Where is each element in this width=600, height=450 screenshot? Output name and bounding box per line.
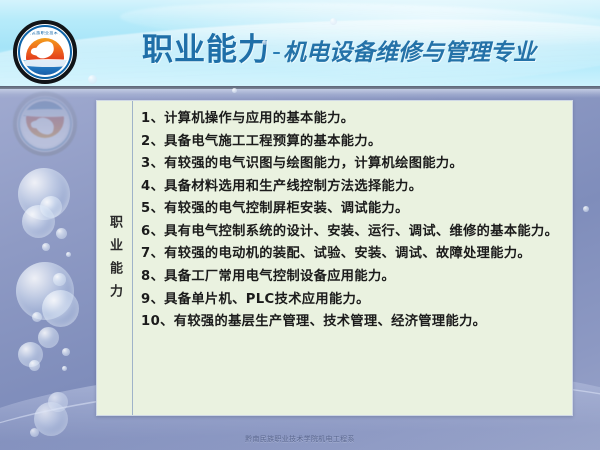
bubble-decoration [62, 366, 67, 371]
bubble-decoration [56, 228, 67, 239]
panel-side-label-column: 职业能力 [97, 101, 132, 415]
bubble-decoration [40, 196, 62, 218]
competency-list-item: 8、具备工厂常用电气控制设备应用能力。 [141, 267, 562, 287]
header-reflection-strip [0, 89, 600, 98]
panel-side-label: 职业能力 [108, 210, 121, 307]
competency-list-item: 3、有较强的电气识图与绘图能力，计算机绘图能力。 [141, 154, 562, 174]
bubble-decoration [34, 402, 68, 436]
footer-text: 黔南民族职业技术学院机电工程系 [0, 434, 600, 444]
logo-reflection-inner-ring [18, 97, 72, 151]
logo-emblem-face: 黔南民族职业技术学院 [22, 29, 68, 75]
bubble-decoration [583, 206, 589, 212]
bubble-decoration [53, 273, 66, 286]
competency-list: 1、计算机操作与应用的基本能力。2、具备电气施工工程预算的基本能力。3、有较强的… [141, 109, 562, 332]
competency-list-item: 4、具备材料选用和生产线控制方法选择能力。 [141, 177, 562, 197]
logo-wave-shape [22, 60, 68, 75]
content-panel: 职业能力 1、计算机操作与应用的基本能力。2、具备电气施工工程预算的基本能力。3… [96, 100, 573, 416]
bubble-decoration [18, 168, 70, 220]
competency-list-item: 7、有较强的电动机的装配、试验、安装、调试、故障处理能力。 [141, 244, 562, 264]
logo-reflection-wave-highlight [22, 109, 68, 117]
logo-reflection-sun-shape [26, 114, 64, 138]
bubble-decoration [48, 392, 68, 412]
page-title-subtitle: 机电设备维修与管理专业 [283, 33, 536, 67]
logo-reflection-bird-wing-icon [30, 118, 46, 129]
bubble-decoration [29, 360, 40, 371]
bubble-decoration [62, 348, 70, 356]
logo-reflection-outer-ring [13, 92, 77, 156]
bubble-decoration [66, 252, 71, 257]
logo-reflection-bird-icon [34, 116, 56, 136]
competency-list-item: 6、具有电气控制系统的设计、安装、运行、调试、维修的基本能力。 [141, 222, 562, 242]
competency-list-item: 1、计算机操作与应用的基本能力。 [141, 109, 562, 129]
bubble-decoration [18, 342, 43, 367]
page-title: 职业能力 - 机电设备维修与管理专业 [142, 24, 536, 69]
logo-ring-text: 黔南民族职业技术学院 [22, 30, 68, 35]
page-title-main: 职业能力 [142, 24, 270, 69]
presentation-slide: 职业能力 - 机电设备维修与管理专业 黔南民族职业技术学院 [0, 0, 600, 450]
bubble-decoration [16, 262, 74, 320]
competency-list-item: 9、具备单片机、PLC技术应用能力。 [141, 290, 562, 310]
bubble-decoration [42, 290, 79, 327]
school-emblem-logo-reflection [13, 92, 77, 156]
competency-list-item: 10、有较强的基层生产管理、技术管理、经济管理能力。 [141, 312, 562, 332]
bubble-decoration [32, 312, 42, 322]
bubble-decoration [42, 243, 50, 251]
competency-list-item: 2、具备电气施工工程预算的基本能力。 [141, 132, 562, 152]
competency-list-item: 5、有较强的电气控制屏柜安装、调试能力。 [141, 199, 562, 219]
logo-reflection-face [22, 101, 68, 147]
logo-wave-highlight [22, 59, 68, 67]
bubble-decoration [38, 327, 59, 348]
logo-reflection-wave-shape [22, 101, 68, 116]
panel-body: 1、计算机操作与应用的基本能力。2、具备电气施工工程预算的基本能力。3、有较强的… [133, 101, 572, 415]
bubble-decoration [22, 205, 55, 238]
school-emblem-logo: 黔南民族职业技术学院 [13, 20, 77, 84]
page-title-separator: - [270, 37, 283, 66]
